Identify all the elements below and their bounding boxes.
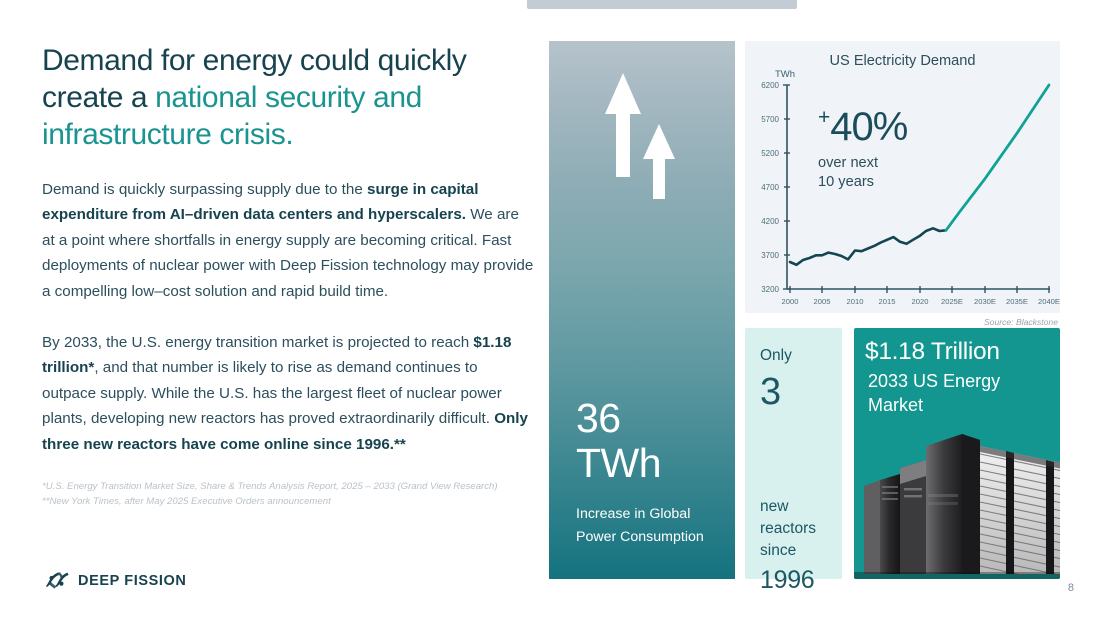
body-paragraph-1: Demand is quickly surpassing supply due … [42, 177, 534, 304]
svg-text:2010: 2010 [847, 297, 864, 306]
reactor-caption: new reactors since 1996 [760, 496, 816, 596]
svg-text:2040E: 2040E [1038, 297, 1060, 306]
reactor-caption-line-3: since [760, 540, 816, 562]
svg-text:5200: 5200 [761, 149, 779, 158]
paragraph-2-part-c: , and that number is likely to rise as d… [42, 359, 502, 427]
chart-series-projection [946, 85, 1049, 230]
chart-plot: 6200 5700 5200 4700 4200 3700 3200 [745, 41, 1060, 313]
footnote-1: *U.S. Energy Transition Market Size, Sha… [42, 479, 534, 494]
server-rows [980, 446, 1060, 578]
paragraph-2-part-a: By 2033, the U.S. energy transition mark… [42, 334, 473, 351]
body-paragraph-2: By 2033, the U.S. energy transition mark… [42, 330, 534, 457]
svg-text:6200: 6200 [761, 81, 779, 90]
new-reactors-card: Only 3 new reactors since 1996 [745, 328, 842, 579]
market-caption-line-1: 2033 US Energy [868, 369, 1000, 393]
chart-x-tick-labels: 2000 2005 2010 2015 2020 2025E 2030E 203… [782, 297, 1060, 306]
svg-text:2005: 2005 [814, 297, 831, 306]
top-decorative-bar [527, 0, 797, 9]
svg-text:3200: 3200 [761, 285, 779, 294]
up-arrow-large-icon [605, 73, 641, 177]
market-caption-line-2: Market [868, 393, 1000, 417]
growth-arrows-graphic [549, 59, 735, 219]
footnotes: *U.S. Energy Transition Market Size, Sha… [42, 479, 534, 509]
up-arrow-small-icon [643, 124, 675, 199]
data-center-servers-photo [854, 424, 1060, 579]
headline-line-2-plain: create a [42, 81, 155, 114]
page-number: 8 [1068, 582, 1074, 594]
svg-text:4700: 4700 [761, 183, 779, 192]
svg-text:4200: 4200 [761, 217, 779, 226]
global-power-panel: 36 TWh Increase in Global Power Consumpt… [549, 41, 735, 579]
svg-text:2025E: 2025E [941, 297, 963, 306]
reactor-count-value: 3 [760, 370, 842, 414]
stat-unit: TWh [576, 441, 726, 486]
market-caption: 2033 US Energy Market [868, 369, 1000, 417]
power-consumption-stat: 36 TWh Increase in Global Power Consumpt… [576, 396, 726, 548]
brand-logo: DEEP FISSION [46, 572, 186, 590]
reactor-caption-line-1: new [760, 496, 816, 518]
deep-fission-helix-icon [46, 572, 70, 590]
us-electricity-demand-chart-card: US Electricity Demand TWh 6200 5700 5200… [745, 41, 1060, 313]
svg-text:2000: 2000 [782, 297, 799, 306]
page-title: Demand for energy could quickly create a… [42, 42, 534, 153]
reactor-since-year: 1996 [760, 564, 816, 596]
energy-market-card: $1.18 Trillion 2033 US Energy Market [854, 328, 1060, 579]
slide-root: Demand for energy could quickly create a… [0, 0, 1100, 619]
market-value: $1.18 Trillion [865, 337, 1000, 367]
reactor-caption-line-2: reactors [760, 518, 816, 540]
svg-text:2015: 2015 [879, 297, 896, 306]
stat-value: 36 [576, 396, 726, 441]
stat-caption: Increase in Global Power Consumption [576, 503, 726, 548]
svg-text:2020: 2020 [912, 297, 929, 306]
chart-source-label: Source: Blackstone [984, 317, 1058, 327]
only-label: Only [760, 346, 842, 366]
logo-wordmark: DEEP FISSION [78, 573, 186, 589]
headline-line-1: Demand for energy could quickly [42, 44, 467, 77]
headline-line-3-accent: infrastructure crisis. [42, 118, 293, 151]
left-content-column: Demand for energy could quickly create a… [42, 42, 534, 509]
headline-line-2-accent: national security and [155, 81, 422, 114]
svg-text:3700: 3700 [761, 251, 779, 260]
svg-text:2035E: 2035E [1006, 297, 1028, 306]
footnote-2: **New York Times, after May 2025 Executi… [42, 494, 534, 509]
svg-text:5700: 5700 [761, 115, 779, 124]
chart-y-tick-labels: 6200 5700 5200 4700 4200 3700 3200 [761, 81, 779, 294]
chart-series-historical [790, 228, 946, 264]
paragraph-1-part-a: Demand is quickly surpassing supply due … [42, 181, 367, 198]
svg-text:2030E: 2030E [974, 297, 996, 306]
